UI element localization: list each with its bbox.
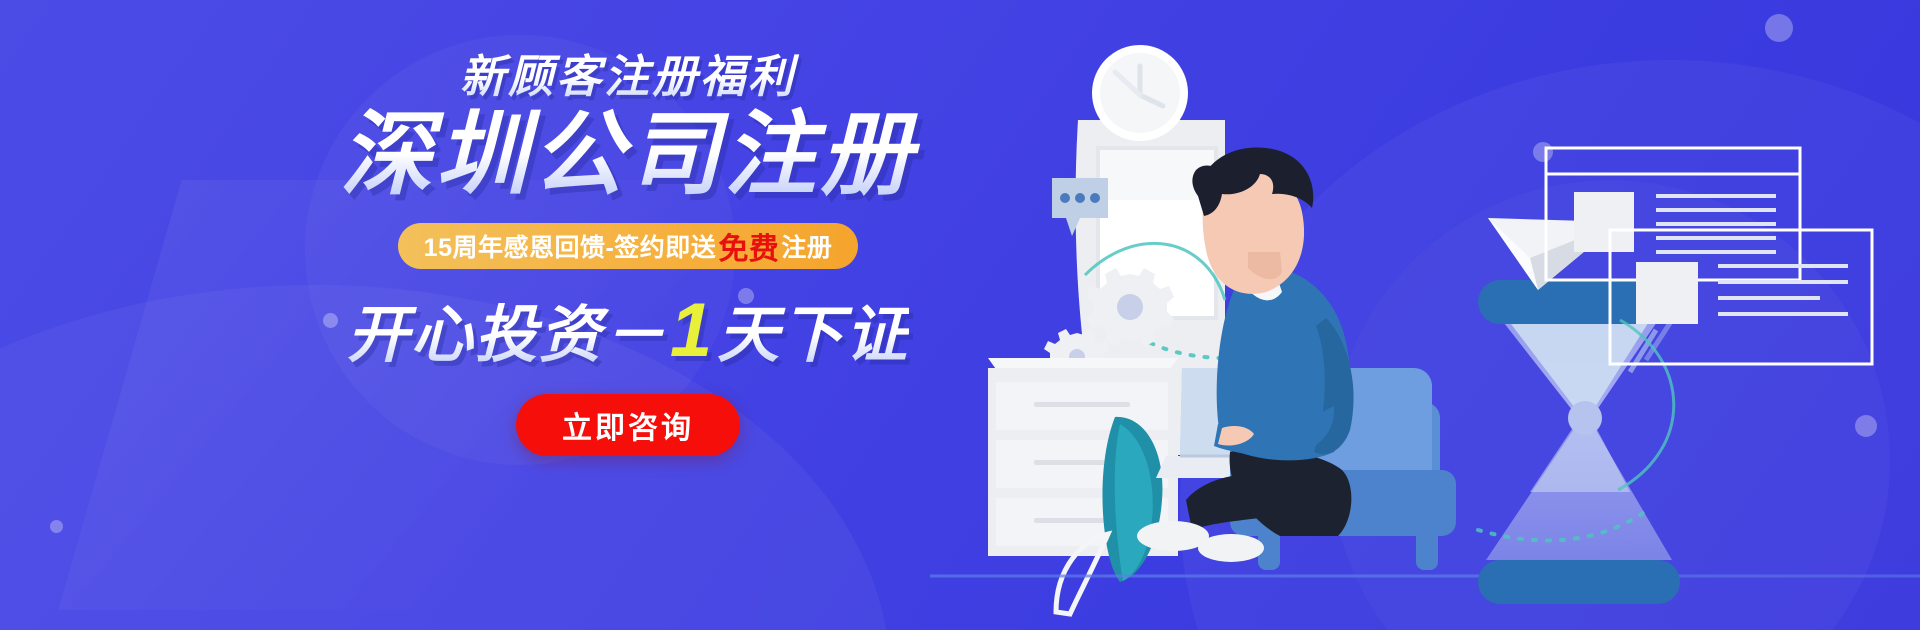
tagline-after: 天下证	[717, 301, 909, 370]
promo-pill: 15周年感恩回馈-签约即送 免费 注册	[398, 223, 859, 269]
headline-text: 深圳公司注册	[318, 106, 938, 205]
tagline-before: 开心投资－	[347, 301, 667, 370]
eyebrow-text: 新顾客注册福利	[318, 52, 938, 102]
shoe-icon	[1198, 534, 1264, 562]
promo-pill-highlight: 免费	[716, 224, 781, 268]
tagline-number: 1	[667, 288, 717, 373]
wall-clock-icon	[1092, 45, 1188, 141]
tagline: 开心投资－1天下证	[318, 289, 938, 373]
hourglass-icon	[1478, 280, 1680, 604]
document-card-icon	[1546, 148, 1800, 280]
banner-copy: 新顾客注册福利 深圳公司注册 15周年感恩回馈-签约即送 免费 注册 开心投资－…	[318, 52, 938, 456]
decorative-dot	[50, 520, 63, 533]
promo-pill-prefix: 15周年感恩回馈-签约即送	[424, 228, 717, 264]
promo-pill-suffix: 注册	[781, 228, 832, 264]
consult-now-button[interactable]: 立即咨询	[516, 394, 740, 456]
hero-illustration	[930, 0, 1920, 630]
promo-banner: 新顾客注册福利 深圳公司注册 15周年感恩回馈-签约即送 免费 注册 开心投资－…	[0, 0, 1920, 630]
